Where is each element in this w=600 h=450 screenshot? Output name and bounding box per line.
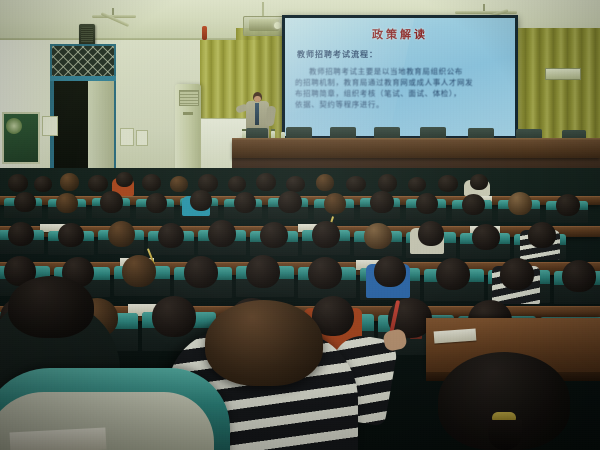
slide-title: 政策解读 — [295, 26, 505, 42]
audience-head — [312, 221, 340, 248]
audience-head — [374, 256, 406, 287]
presenter-stage-desk — [232, 140, 600, 158]
audience-head — [184, 256, 218, 288]
audience-head — [286, 176, 305, 192]
slide-body-line: 教师招聘考试主要是以当地教育局组织公布 — [295, 66, 505, 77]
foreground-student-head — [205, 300, 323, 386]
audience-head — [260, 222, 288, 248]
audience-head — [228, 176, 246, 192]
slide-body-line: 依据、契约等程序进行。 — [295, 99, 505, 110]
audience-head — [364, 223, 392, 249]
audience-head — [58, 223, 84, 247]
audience-head — [436, 258, 470, 290]
audience-head — [152, 296, 196, 337]
audience-head — [14, 192, 36, 212]
audience-head — [116, 172, 133, 187]
air-conditioner-vent — [179, 90, 199, 106]
audience-head — [246, 255, 280, 288]
audience-head — [256, 173, 276, 191]
audience-head — [142, 174, 161, 191]
audience-head — [158, 223, 184, 248]
audience-head — [408, 177, 426, 192]
audience-head — [308, 257, 342, 289]
audience-head — [378, 174, 397, 192]
audience-head — [462, 194, 485, 215]
wall-notice — [136, 130, 148, 146]
slide-body-line: 布招聘简章，组织考核（笔试、面试、体检）， — [295, 88, 505, 99]
audience-head — [556, 194, 580, 216]
presenter-necktie — [255, 103, 259, 125]
projector-lens-icon — [274, 22, 281, 29]
audience-head — [60, 173, 79, 191]
audience-head — [234, 192, 256, 213]
audience-head — [508, 192, 532, 215]
audience-head — [562, 260, 596, 292]
speaker-grille — [81, 27, 93, 43]
audience-head — [418, 221, 444, 246]
audience-head — [8, 174, 28, 192]
audience-head — [88, 175, 108, 192]
audience-head — [472, 224, 500, 250]
audience-head — [100, 191, 123, 213]
ponytail — [488, 420, 522, 450]
bottle-cap — [271, 129, 275, 131]
audience-head — [170, 176, 188, 192]
audience-head — [56, 193, 78, 213]
audience-head — [8, 222, 34, 246]
audience-head — [34, 176, 52, 192]
audience-head — [346, 176, 366, 192]
presenter-face — [254, 96, 261, 102]
slide-subtitle: 教师招聘考试流程： — [297, 49, 505, 60]
audience-head — [528, 222, 556, 248]
audience-head — [438, 175, 458, 192]
fire-alarm-icon — [202, 26, 207, 40]
audience-head — [146, 193, 167, 213]
wall-notice — [120, 128, 134, 146]
wall-sign — [545, 68, 581, 80]
foreground-student-left-head — [8, 276, 94, 338]
audience-head — [370, 191, 394, 213]
audience-head — [324, 193, 346, 214]
handout-paper — [9, 428, 106, 450]
projection-screen-frame: 政策解读 教师招聘考试流程： 教师招聘考试主要是以当地教育局组织公布 的招聘机制… — [282, 15, 518, 139]
projection-screen: 政策解读 教师招聘考试流程： 教师招聘考试主要是以当地教育局组织公布 的招聘机制… — [285, 18, 515, 136]
audience-head — [316, 174, 334, 191]
audience-head — [278, 191, 302, 213]
audience-head — [208, 220, 236, 247]
audience-head — [190, 190, 212, 211]
audience-head — [122, 255, 156, 287]
wall-notice — [42, 116, 58, 136]
air-conditioner-badge — [183, 112, 193, 115]
poster-highlight — [6, 118, 22, 134]
photo-canvas: 政策解读 教师招聘考试流程： 教师招聘考试主要是以当地教育局组织公布 的招聘机制… — [0, 0, 600, 450]
audience-head — [470, 174, 488, 190]
bottle-cap — [242, 129, 246, 131]
audience-head — [416, 193, 438, 214]
audience-head — [108, 221, 135, 247]
slide-body-line: 的招聘机制，教育局通过教育网或成人事人才网发 — [295, 77, 505, 88]
audience-head — [500, 258, 534, 290]
door-grille — [52, 46, 114, 76]
